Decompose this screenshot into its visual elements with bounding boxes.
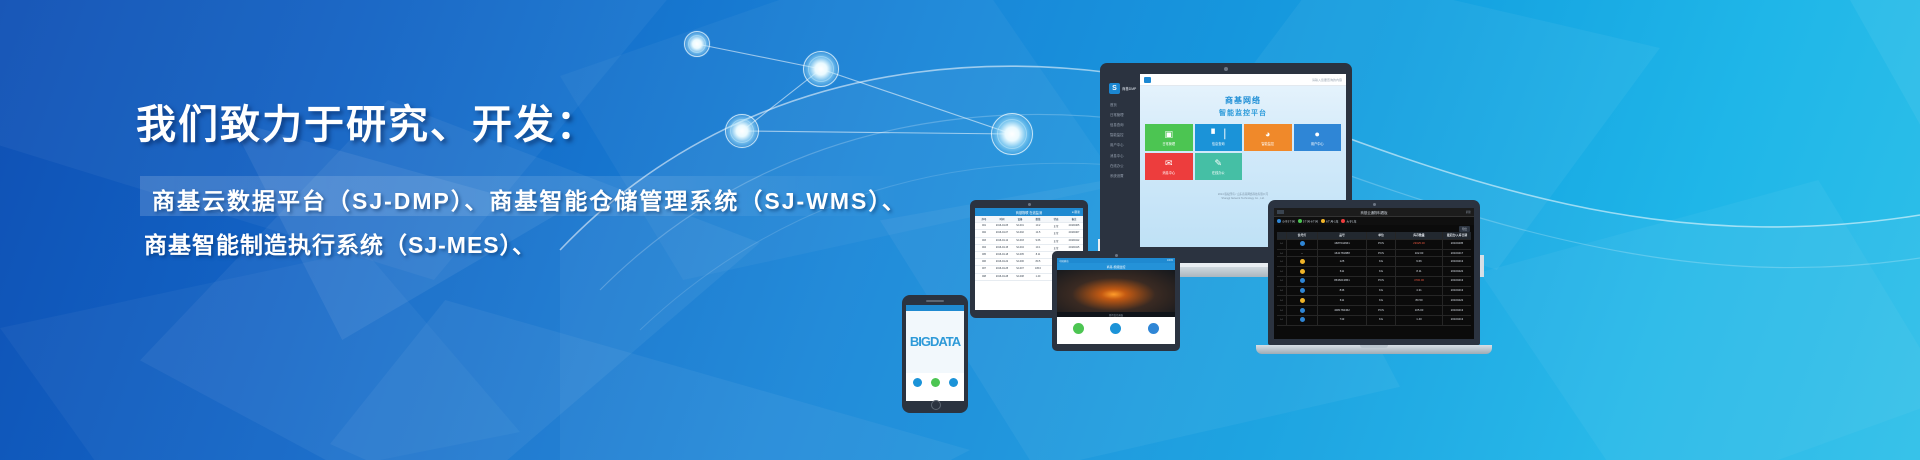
cell: SJ-001 [1011, 223, 1029, 229]
row-check[interactable]: □ [1277, 257, 1287, 266]
cell: SJ-005 [1011, 252, 1029, 258]
legend: 小于3个月 3个月-6个月 6个月-1年 大于1年 [1274, 217, 1474, 225]
table-row[interactable]: □ 8636013861 PCS 4700.00 20160413 [1277, 277, 1471, 287]
table-row[interactable]: □ 611 KG 80.50 20160422 [1277, 296, 1471, 306]
table-row[interactable]: □ -- 1641781888 PCS 102.00 20160417 [1277, 250, 1471, 258]
tile-label: 日常管理 [1162, 141, 1175, 146]
cell-code: 1641781888 [1318, 250, 1367, 257]
camera-icon [1115, 254, 1118, 257]
sidebar-item-3[interactable]: 智能监控 [1106, 130, 1140, 140]
cell-qty: 1.40 [1396, 316, 1443, 325]
cell: 20160405 [1065, 223, 1083, 229]
laptop-title: 商基云通物料看板 [1360, 210, 1387, 215]
laptop-screen: 商基云通物料看板 刷新 小于3个月 3个月-6个月 6个月-1年 大于1年 导出 [1274, 208, 1474, 339]
legend-item-1: 3个月-6个月 [1298, 219, 1318, 224]
app-titlebar: 商基 视频监控 [1057, 263, 1175, 270]
cell: 20160412 [1065, 238, 1083, 244]
cell-qty: 8.11 [1396, 267, 1443, 276]
cell: 2016-04-28 [993, 274, 1011, 280]
cell-date: 20160422 [1443, 296, 1471, 305]
cell: 1.40 [1029, 274, 1047, 280]
page-title: 我们致力于研究、开发： [136, 92, 598, 150]
pie-icon: ◕ [1265, 130, 1270, 139]
cell-unit: KG [1367, 316, 1396, 325]
battery-label: 100% [1167, 259, 1173, 262]
cell: 005 [975, 252, 993, 258]
hero-banner: 我们致力于研究、开发： 商基云数据平台（SJ-DMP）、商基智能仓储管理系统（S… [0, 0, 1920, 460]
brand-name: 商基DMP [1122, 86, 1136, 91]
sidebar-item-2[interactable]: 信息查询 [1106, 119, 1140, 129]
cell: 2016-04-15 [993, 245, 1011, 251]
table-row[interactable]: 002 2016-04-07 SJ-002 14.5 正常 20160407 [975, 230, 1083, 237]
sidebar-item-7[interactable]: 系统设置 [1106, 170, 1140, 180]
cell: 2016-04-25 [993, 266, 1011, 272]
phone-device: BIG DATA [902, 295, 968, 413]
table-row[interactable]: □ 611 KG 8.11 20160422 [1277, 267, 1471, 277]
table-row[interactable]: □ 743 KG 1.40 20160413 [1277, 316, 1471, 326]
table-header-row: 序号 时间 设备 数值 状态 备注 [975, 216, 1083, 223]
product-line-1: 商基云数据平台（SJ-DMP）、商基智能仓储管理系统（SJ-WMS）、 [152, 182, 907, 216]
col-header: 单位 [1367, 232, 1396, 239]
legend-label: 小于3个月 [1282, 219, 1295, 223]
cell-code: 743 [1318, 316, 1367, 325]
col-header: 时间 [993, 216, 1011, 222]
cell: 2016-04-12 [993, 238, 1011, 244]
cell: 80.5 [1029, 259, 1047, 265]
laptop-device: 商基云通物料看板 刷新 小于3个月 3个月-6个月 6个月-1年 大于1年 导出 [1268, 200, 1480, 345]
bigdata-line1: BIG [910, 336, 930, 348]
video-feed[interactable] [1057, 270, 1175, 312]
home-button-icon[interactable] [931, 400, 941, 410]
row-check[interactable]: □ [1277, 250, 1287, 257]
col-header [1277, 232, 1287, 239]
cell-unit: KG [1367, 267, 1396, 276]
signal-dot [1287, 257, 1318, 266]
cell: 10.1 [1029, 245, 1047, 251]
tile-label: 用户中心 [1311, 141, 1324, 146]
cell-unit: KG [1367, 257, 1396, 266]
cell: 002 [975, 230, 993, 236]
cell-code: 4081784462 [1318, 306, 1367, 315]
cell: 20160407 [1065, 230, 1083, 236]
laptop-titlebar: 商基云通物料看板 刷新 [1274, 208, 1474, 217]
legend-item-2: 6个月-1年 [1321, 219, 1338, 224]
cell-qty: 102.00 [1396, 250, 1443, 257]
cell: 20160415 [1065, 245, 1083, 251]
phone-icon-1[interactable] [931, 378, 940, 387]
imac-topbar: 请输入您要查询的内容 [1140, 74, 1346, 86]
col-header: 设备 [1011, 216, 1029, 222]
tile-2[interactable]: ◕ 智能监控 [1244, 124, 1292, 151]
signal-dot [1287, 316, 1318, 325]
col-header: 库存数量 [1396, 232, 1443, 239]
legend-label: 6个月-1年 [1326, 219, 1338, 223]
table-row[interactable]: 003 2016-04-12 SJ-003 9.66 正常 20160412 [975, 238, 1083, 245]
cell: 2016-04-22 [993, 259, 1011, 265]
col-header: 信号灯 [1287, 232, 1318, 239]
table-row[interactable]: 001 2016-04-05 SJ-001 10.2 正常 20160405 [975, 223, 1083, 230]
tile-3[interactable]: ● 用户中心 [1294, 124, 1342, 151]
cell: 正常 [1047, 238, 1065, 244]
row-check[interactable]: □ [1277, 316, 1287, 325]
table-header-row: 信号灯 品号 单位 库存数量 最近出/入库日期 [1277, 232, 1471, 240]
cell: 006 [975, 259, 993, 265]
refresh-button[interactable]: 刷新 [1466, 210, 1471, 214]
signal-dot [1287, 267, 1318, 276]
tile-4[interactable]: ✉ 消息中心 [1145, 153, 1193, 180]
cell-date: 20160417 [1443, 250, 1471, 257]
row-check[interactable]: □ [1277, 296, 1287, 305]
signal-dot [1287, 287, 1318, 296]
sidebar-item-6[interactable]: 在线办公 [1106, 160, 1140, 170]
tablet-device-video: 中国移动 100% 商基 视频监控 现场监控画面 视频监控 设备管理 报警记录 [1052, 251, 1180, 351]
sidebar-item-5[interactable]: 消息中心 [1106, 150, 1140, 160]
tablet-icon-item-1[interactable]: 设备管理 [1110, 323, 1121, 344]
big-data-graphic: BIG DATA [906, 311, 964, 373]
cell-code: 125 [1318, 257, 1367, 266]
cell: 003 [975, 238, 993, 244]
sidebar-item-0[interactable]: 首页 [1106, 99, 1140, 109]
tile-1[interactable]: ▘▕ 信息查询 [1195, 124, 1243, 151]
sidebar-item-label: 日常管理 [1110, 112, 1124, 117]
logo-mark-icon: S [1109, 83, 1120, 94]
imac-footer: 2014 版权所有 / 山东商基网络科技有限公司 Shangji Network… [1140, 180, 1346, 201]
row-check[interactable]: □ [1277, 240, 1287, 249]
legend-item-0: 小于3个月 [1277, 219, 1295, 224]
cell: 正常 [1047, 245, 1065, 251]
device-icon [1110, 323, 1121, 334]
cell-unit: PCS [1367, 277, 1396, 286]
cell-qty: 4700.00 [1396, 277, 1443, 286]
speaker-icon [926, 300, 944, 302]
laptop-lid: 商基云通物料看板 刷新 小于3个月 3个月-6个月 6个月-1年 大于1年 导出 [1268, 200, 1480, 345]
cell: 正常 [1047, 223, 1065, 229]
imac-sidebar[interactable]: S 商基DMP 首页 日常管理 信息查询 智能监控 用户中心 消息中心 在线办公… [1106, 74, 1140, 247]
cell: SJ-008 [1011, 274, 1029, 280]
cell-date: 20160413 [1443, 287, 1471, 296]
signal-dot [1287, 277, 1318, 286]
cell: 001 [975, 223, 993, 229]
cell: SJ-002 [1011, 230, 1029, 236]
table-row[interactable]: □ 846 KG 4.31 20160413 [1277, 287, 1471, 297]
app-logo: S 商基DMP [1106, 82, 1140, 99]
laptop-notch [1360, 345, 1388, 348]
sidebar-item-1[interactable]: 日常管理 [1106, 109, 1140, 119]
row-check[interactable]: □ [1277, 267, 1287, 276]
chart-icon: ▘▕ [1211, 130, 1225, 139]
cell: 10.2 [1029, 223, 1047, 229]
hero-title-line1: 商基网络 [1140, 95, 1346, 106]
row-check[interactable]: □ [1277, 287, 1287, 296]
cell-code: 1687044661 [1318, 240, 1367, 249]
network-node-glow [724, 113, 760, 149]
signal-dot [1287, 296, 1318, 305]
cell: 14.5 [1029, 230, 1047, 236]
tile-5[interactable]: ✎ 在线办公 [1195, 153, 1243, 180]
row-check[interactable]: □ [1277, 277, 1287, 286]
device-mockup-cluster:  S 商基DMP 首页 日常管理 信息查询 智能监控 用户中心 [1010, 55, 1920, 355]
cell-date: 20160413 [1443, 316, 1471, 325]
mail-icon: ✉ [1165, 159, 1173, 168]
cell-qty: 29325.00 [1396, 240, 1443, 249]
cell-unit: KG [1367, 287, 1396, 296]
cell-date: 20160405 [1443, 240, 1471, 249]
tile-grid: ▣ 日常管理 ▘▕ 信息查询 ◕ 智能监控 ● 用户中心 [1140, 118, 1346, 180]
cell: 008 [975, 274, 993, 280]
table-row[interactable]: □ 4081784462 PCS 105.00 20160413 [1277, 306, 1471, 316]
cell-date: 20160413 [1443, 257, 1471, 266]
network-node-glow [683, 30, 711, 58]
user-icon: ● [1315, 130, 1320, 139]
camera-feed-icon [1073, 323, 1084, 334]
alarm-icon [1148, 323, 1159, 334]
col-header: 状态 [1047, 216, 1065, 222]
camera-icon [1028, 203, 1031, 206]
cell-qty: 105.00 [1396, 306, 1443, 315]
cell-date: 20160413 [1443, 306, 1471, 315]
sidebar-item-label: 在线办公 [1110, 163, 1124, 168]
tablet-titlebar: 商基物联 在线监测 ● 刷新 [975, 208, 1083, 216]
camera-icon [1373, 203, 1376, 206]
cell: SJ-004 [1011, 245, 1029, 251]
cell: 2016-04-18 [993, 252, 1011, 258]
legend-item-3: 大于1年 [1341, 219, 1356, 224]
col-header: 数值 [1029, 216, 1047, 222]
sidebar-item-label: 智能监控 [1110, 132, 1124, 137]
cell: 2016-04-07 [993, 230, 1011, 236]
laptop-toolbar: 导出 [1274, 225, 1474, 232]
cell-unit: PCS [1367, 250, 1396, 257]
phone-icon-0[interactable] [913, 378, 922, 387]
cell-date: 20160413 [1443, 277, 1471, 286]
row-check[interactable]: □ [1277, 306, 1287, 315]
imac-hero-title: 商基网络 智能监控平台 [1140, 86, 1346, 118]
cell: 007 [975, 266, 993, 272]
cell-code: 611 [1318, 296, 1367, 305]
col-header: 备注 [1065, 216, 1083, 222]
tablet-icon-row: 视频监控 设备管理 报警记录 [1057, 317, 1175, 344]
cell: 8.11 [1029, 252, 1047, 258]
cell: SJ-007 [1011, 266, 1029, 272]
cell: SJ-003 [1011, 238, 1029, 244]
tile-label: 信息查询 [1212, 141, 1225, 146]
cell-unit: KG [1367, 296, 1396, 305]
window-icon [1277, 210, 1284, 214]
phone-icon-row [906, 373, 964, 392]
network-node-glow [802, 50, 840, 88]
cell-qty: 80.50 [1396, 296, 1443, 305]
tile-0[interactable]: ▣ 日常管理 [1145, 124, 1193, 151]
sidebar-item-label: 消息中心 [1110, 153, 1124, 158]
cell: SJ-006 [1011, 259, 1029, 265]
cell-qty: 9.66 [1396, 257, 1443, 266]
cell: 9.66 [1029, 238, 1047, 244]
signal-dot [1287, 306, 1318, 315]
signal-dot: -- [1287, 250, 1318, 257]
col-header: 最近出/入库日期 [1443, 232, 1471, 239]
cell-code: 611 [1318, 267, 1367, 276]
phone-icon-2[interactable] [949, 378, 958, 387]
legend-label: 3个月-6个月 [1303, 219, 1318, 223]
sidebar-item-4[interactable]: 用户中心 [1106, 140, 1140, 150]
table-row[interactable]: □ 125 KG 9.66 20160413 [1277, 257, 1471, 267]
cell: 105.0 [1029, 266, 1047, 272]
tablet-icon-item-2[interactable]: 报警记录 [1148, 323, 1159, 344]
carrier-label: 中国移动 [1059, 259, 1069, 263]
tablet-video-screen: 中国移动 100% 商基 视频监控 现场监控画面 视频监控 设备管理 报警记录 [1057, 258, 1175, 344]
sidebar-item-label: 系统设置 [1110, 173, 1124, 178]
tile-label: 消息中心 [1162, 170, 1175, 175]
tile-label: 在线办公 [1212, 170, 1225, 175]
signal-dot [1287, 240, 1318, 249]
refresh-button[interactable]: ● 刷新 [1072, 210, 1080, 214]
cell-unit: PCS [1367, 306, 1396, 315]
legend-label: 大于1年 [1346, 219, 1356, 223]
cell-date: 20160422 [1443, 267, 1471, 276]
bigdata-line2: DATA [930, 336, 960, 348]
tile-label: 智能监控 [1261, 141, 1274, 146]
cell: 正常 [1047, 230, 1065, 236]
phone-screen: BIG DATA [906, 305, 964, 401]
sidebar-item-label: 首页 [1110, 102, 1117, 107]
edit-icon: ✎ [1214, 159, 1222, 168]
col-header: 品号 [1318, 232, 1367, 239]
cell-code: 846 [1318, 287, 1367, 296]
cell: 004 [975, 245, 993, 251]
sidebar-item-label: 用户中心 [1110, 142, 1124, 147]
camera-icon [1224, 67, 1228, 71]
cell-code: 8636013861 [1318, 277, 1367, 286]
monitor-icon: ▣ [1164, 130, 1173, 139]
menu-toggle-icon[interactable] [1144, 77, 1151, 83]
sidebar-item-label: 信息查询 [1110, 122, 1124, 127]
tablet-icon-item-0[interactable]: 视频监控 [1073, 323, 1084, 344]
cell-unit: PCS [1367, 240, 1396, 249]
cell: 2016-04-05 [993, 223, 1011, 229]
col-header: 序号 [975, 216, 993, 222]
product-line-2: 商基智能制造执行系统（SJ-MES）、 [144, 226, 536, 260]
tablet-title: 商基物联 在线监测 [1016, 210, 1042, 215]
search-input[interactable]: 请输入您要查询的内容 [1312, 78, 1342, 82]
table-row[interactable]: □ 1687044661 PCS 29325.00 20160405 [1277, 240, 1471, 250]
inventory-table: 信号灯 品号 单位 库存数量 最近出/入库日期 □ 1687044661 PCS… [1274, 232, 1474, 326]
hero-title-line2: 智能监控平台 [1140, 108, 1346, 118]
export-button[interactable]: 导出 [1459, 226, 1470, 232]
cell-qty: 4.31 [1396, 287, 1443, 296]
